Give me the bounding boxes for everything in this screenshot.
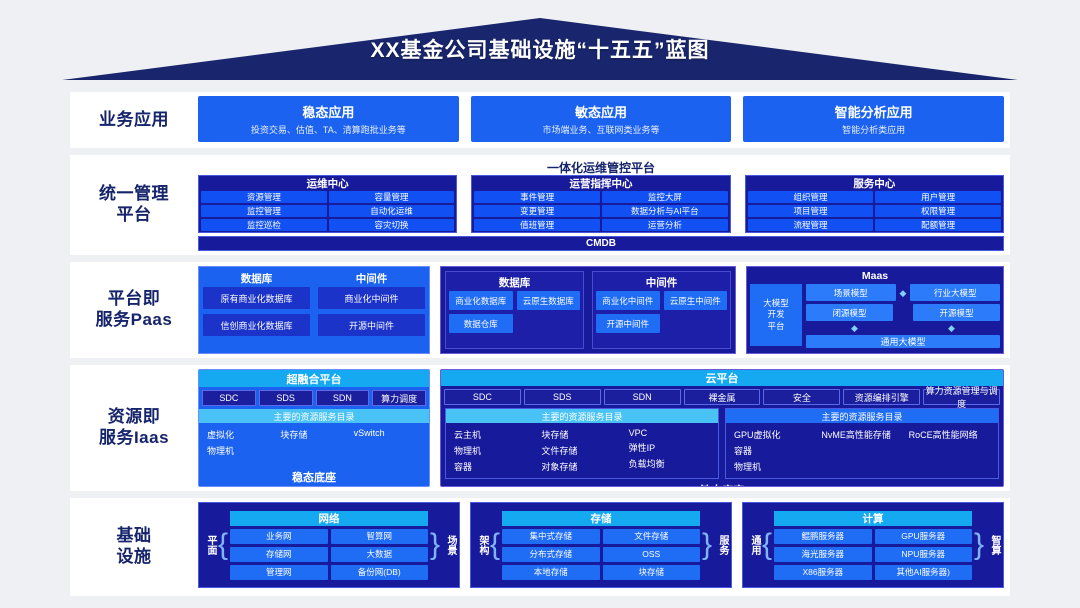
block-item[interactable]: 鲲鹏服务器 (774, 529, 871, 544)
capability-item[interactable]: SDC (202, 390, 256, 406)
paas-item[interactable]: 开源中间件 (318, 314, 425, 336)
catalog-column: RoCE高性能网络 (909, 428, 990, 473)
roof-banner: XX基金公司基础设施“十五五”蓝图 (0, 0, 1080, 92)
maas-dev-platform[interactable]: 大模型开发平台 (750, 284, 802, 346)
application-card-title: 智能分析应用 (835, 102, 913, 121)
arrow-right-icon: ◆ (900, 289, 907, 297)
maas-model-item[interactable]: 场景模型 (806, 284, 896, 301)
cloud-platform-title: 云平台 (441, 370, 1003, 386)
block-item[interactable]: 备份网(DB) (331, 565, 428, 580)
row-label-iaas: 资源即服务Iaas (70, 407, 198, 448)
catalog-item: 物理机 (207, 444, 274, 457)
paas-item[interactable]: 云原生中间件 (664, 291, 728, 310)
paas-item-list: 原有商业化数据库 信创商业化数据库 (203, 287, 310, 349)
paas-subgroup-database: 数据库 商业化数据库 云原生数据库 数据仓库 (445, 271, 584, 349)
center-item[interactable]: 容灾切换 (329, 219, 455, 231)
maas-model-item[interactable]: 开源模型 (913, 304, 1000, 321)
application-card[interactable]: 敏态应用 市场端业务、互联网类业务等 (471, 96, 732, 142)
block-item[interactable]: 本地存储 (502, 565, 599, 580)
capability-item[interactable]: 裸金属 (684, 389, 761, 405)
catalog-item: 容器 (734, 444, 815, 457)
application-card-list: 稳态应用 投资交易、估值、TA、清算跑批业务等 敏态应用 市场端业务、互联网类业… (198, 96, 1004, 142)
application-card[interactable]: 稳态应用 投资交易、估值、TA、清算跑批业务等 (198, 96, 459, 142)
catalog-item: 物理机 (734, 460, 815, 473)
maas-general-model[interactable]: 通用大模型 (806, 335, 1000, 348)
paas-item[interactable]: 商业化中间件 (318, 287, 425, 309)
maas-row-source: 闭源模型 开源模型 (806, 304, 1000, 321)
row-body-iaas: 超融合平台 SDC SDS SDN 算力调度 主要的资源服务目录 虚拟化 物理机 (198, 365, 1010, 491)
management-center-list: 运维中心 资源管理 容量管理 监控管理 自动化运维 监控巡检 容灾切换 运营指挥… (198, 175, 1004, 233)
block-item[interactable]: 存储网 (230, 547, 327, 562)
row-label-infrastructure: 基础设施 (70, 526, 198, 567)
catalog-body: 虚拟化 物理机 块存储 vSwitch (199, 423, 429, 468)
catalog-column: VPC 弹性IP 负载均衡 (629, 428, 710, 473)
paas-item[interactable]: 云原生数据库 (517, 291, 581, 310)
block-item[interactable]: 文件存储 (603, 529, 700, 544)
center-title: 运营指挥中心 (474, 178, 727, 191)
block-item[interactable]: 业务网 (230, 529, 327, 544)
paas-item[interactable]: 商业化数据库 (449, 291, 513, 310)
capability-item[interactable]: SDN (604, 389, 681, 405)
paas-subgroup-title: 中间件 (596, 275, 727, 291)
center-item[interactable]: 项目管理 (748, 205, 874, 217)
brace-left-icon: { (490, 530, 500, 560)
center-item-grid: 资源管理 容量管理 监控管理 自动化运维 监控巡检 容灾切换 (201, 191, 454, 230)
paas-item[interactable]: 信创商业化数据库 (203, 314, 310, 336)
hyperconverged-title: 超融合平台 (199, 370, 429, 387)
application-card-title: 稳态应用 (302, 102, 354, 121)
block-item[interactable]: OSS (603, 547, 700, 562)
center-item[interactable]: 配额管理 (875, 219, 1001, 231)
catalog-item: 块存储 (280, 428, 347, 441)
application-card-title: 敏态应用 (575, 102, 627, 121)
brace-left-icon: { (218, 530, 228, 560)
hyperconverged-platform: 超融合平台 SDC SDS SDN 算力调度 主要的资源服务目录 虚拟化 物理机 (198, 369, 430, 487)
row-body-infrastructure: 平面 { 网络 业务网 智算网 存储网 大数据 管理网 备份网(DB) (198, 498, 1010, 596)
block-right-label: 智算 (986, 535, 1000, 555)
center-item[interactable]: 容量管理 (329, 191, 455, 203)
center-item[interactable]: 事件管理 (474, 191, 600, 203)
cloud-catalog-split: 主要的资源服务目录 云主机 物理机 容器 块存储 文件存储 (441, 408, 1003, 482)
catalog-item: GPU虚拟化 (734, 428, 815, 441)
application-card-subtitle: 投资交易、估值、TA、清算跑批业务等 (251, 123, 406, 136)
capability-item[interactable]: 资源编排引擎 (843, 389, 920, 405)
center-item[interactable]: 流程管理 (748, 219, 874, 231)
hyperconverged-capability-list: SDC SDS SDN 算力调度 (199, 387, 429, 409)
page-title: XX基金公司基础设施“十五五”蓝图 (0, 34, 1080, 64)
blueprint-page: XX基金公司基础设施“十五五”蓝图 业务应用 稳态应用 投资交易、估值、TA、清… (0, 0, 1080, 608)
cloud-platform: 云平台 SDC SDS SDN 裸金属 安全 资源编排引擎 算力资源管理与调度 … (440, 369, 1004, 487)
catalog-item: 弹性IP (629, 441, 710, 454)
paas-item-list: 商业化数据库 云原生数据库 数据仓库 (449, 291, 580, 333)
platform-title: 一体化运维管控平台 (198, 159, 1004, 175)
row-unified-management: 统一管理平台 一体化运维管控平台 运维中心 资源管理 容量管理 监控管理 自动化… (70, 155, 1010, 255)
center-title: 运维中心 (201, 178, 454, 191)
block-item[interactable]: 管理网 (230, 565, 327, 580)
capability-item[interactable]: 算力调度 (372, 390, 426, 406)
brace-right-icon: } (702, 530, 712, 560)
center-item[interactable]: 监控巡检 (201, 219, 327, 231)
block-item[interactable]: 分布式存储 (502, 547, 599, 562)
center-item[interactable]: 变更管理 (474, 205, 600, 217)
block-right-label: 服务 (714, 535, 728, 555)
catalog-item: NvME高性能存储 (821, 428, 902, 441)
row-iaas: 资源即服务Iaas 超融合平台 SDC SDS SDN 算力调度 主要的资源服务… (70, 365, 1010, 491)
catalog-item: 文件存储 (541, 444, 622, 457)
catalog-body: GPU虚拟化 容器 物理机 NvME高性能存储 RoCE高性能网络 (726, 423, 998, 478)
maas-model-item[interactable]: 行业大模型 (910, 284, 1000, 301)
maas-dev-platform-label: 大模型开发平台 (763, 298, 789, 332)
cloud-capability-list: SDC SDS SDN 裸金属 安全 资源编排引擎 算力资源管理与调度 (441, 386, 1003, 408)
center-item[interactable]: 值班管理 (474, 219, 600, 231)
catalog-item: vSwitch (354, 428, 421, 438)
paas-item[interactable]: 原有商业化数据库 (203, 287, 310, 309)
row-body-paas: 数据库 原有商业化数据库 信创商业化数据库 中间件 商业化中间件 开源中间件 (198, 262, 1010, 358)
center-item[interactable]: 资源管理 (201, 191, 327, 203)
row-body-business-applications: 稳态应用 投资交易、估值、TA、清算跑批业务等 敏态应用 市场端业务、互联网类业… (198, 92, 1010, 148)
catalog-item: 云主机 (454, 428, 535, 441)
block-title: 网络 (230, 511, 428, 526)
maas-model-item[interactable]: 闭源模型 (806, 304, 893, 321)
management-center[interactable]: 运营指挥中心 事件管理 监控大屏 变更管理 数据分析与AI平台 值班管理 运营分… (471, 175, 730, 233)
row-paas: 平台即服务Paas 数据库 原有商业化数据库 信创商业化数据库 中间件 (70, 262, 1010, 358)
row-label-paas: 平台即服务Paas (70, 289, 198, 330)
catalog-column: 云主机 物理机 容器 (454, 428, 535, 473)
capability-item[interactable]: SDS (259, 390, 313, 406)
block-item[interactable]: 其他AI服务器) (875, 565, 972, 580)
catalog-item: VPC (629, 428, 710, 438)
paas-subgroup-middleware: 中间件 商业化中间件 云原生中间件 开源中间件 (592, 271, 731, 349)
paas-cloudnative-group: 数据库 商业化数据库 云原生数据库 数据仓库 中间件 商业化中间件 云原生中间件… (440, 266, 736, 354)
block-item[interactable]: 块存储 (603, 565, 700, 580)
cloud-catalog-ai: 主要的资源服务目录 GPU虚拟化 容器 物理机 NvME高性能存储 (725, 408, 999, 479)
maas-group: Maas 大模型开发平台 场景模型 ◆ 行业大模型 闭 (746, 266, 1004, 354)
agile-base-label: 敏态底座 (441, 482, 1003, 487)
catalog-column: GPU虚拟化 容器 物理机 (734, 428, 815, 473)
management-center[interactable]: 运维中心 资源管理 容量管理 监控管理 自动化运维 监控巡检 容灾切换 (198, 175, 457, 233)
block-item[interactable]: 智算网 (331, 529, 428, 544)
maas-title: Maas (750, 270, 1000, 284)
block-item[interactable]: X86服务器 (774, 565, 871, 580)
center-title: 服务中心 (748, 178, 1001, 191)
capability-item[interactable]: 算力资源管理与调度 (923, 389, 1000, 405)
catalog-body: 云主机 物理机 容器 块存储 文件存储 对象存储 (446, 423, 718, 478)
paas-subgroup-database: 数据库 原有商业化数据库 信创商业化数据库 (203, 271, 310, 349)
catalog-column: NvME高性能存储 (821, 428, 902, 473)
maas-arrow-row: ◆ ◆ (806, 324, 1000, 332)
paas-subgroup-title: 数据库 (449, 275, 580, 291)
catalog-title: 主要的资源服务目录 (726, 409, 998, 423)
capability-item[interactable]: SDS (524, 389, 601, 405)
center-item[interactable]: 运营分析 (602, 219, 728, 231)
capability-item[interactable]: SDN (316, 390, 370, 406)
center-item-grid: 事件管理 监控大屏 变更管理 数据分析与AI平台 值班管理 运营分析 (474, 191, 727, 230)
block-right-label: 场景 (442, 535, 456, 555)
row-label-unified-management: 统一管理平台 (70, 184, 198, 225)
catalog-title: 主要的资源服务目录 (446, 409, 718, 423)
catalog-column: 虚拟化 物理机 (207, 428, 274, 463)
paas-item[interactable]: 商业化中间件 (596, 291, 660, 310)
center-item[interactable]: 自动化运维 (329, 205, 455, 217)
block-left-label: 架构 (474, 535, 488, 555)
row-infrastructure: 基础设施 平面 { 网络 业务网 智算网 存储网 大数据 管理网 备份网(D (70, 498, 1010, 596)
catalog-item: 物理机 (454, 444, 535, 457)
paas-subgroup-title: 中间件 (318, 271, 425, 287)
block-item[interactable]: 大数据 (331, 547, 428, 562)
catalog-item: 对象存储 (541, 460, 622, 473)
paas-item[interactable]: 数据仓库 (449, 314, 513, 333)
catalog-item: RoCE高性能网络 (909, 428, 990, 441)
infrastructure-block-storage: 架构 { 存储 集中式存储 文件存储 分布式存储 OSS 本地存储 块存储 (470, 502, 732, 588)
center-item[interactable]: 监控大屏 (602, 191, 728, 203)
paas-item-list: 商业化中间件 开源中间件 (318, 287, 425, 349)
application-card[interactable]: 智能分析应用 智能分析类应用 (743, 96, 1004, 142)
block-left-label: 通用 (746, 535, 760, 555)
block-item[interactable]: 海光服务器 (774, 547, 871, 562)
center-item[interactable]: 数据分析与AI平台 (602, 205, 728, 217)
infrastructure-block-compute: 通用 { 计算 鲲鹏服务器 GPU服务器 海光服务器 NPU服务器 X86服务器… (742, 502, 1004, 588)
center-item[interactable]: 组织管理 (748, 191, 874, 203)
capability-item[interactable]: 安全 (763, 389, 840, 405)
cmdb-bar[interactable]: CMDB (198, 236, 1004, 251)
capability-item[interactable]: SDC (444, 389, 521, 405)
catalog-item: 容器 (454, 460, 535, 473)
arrow-up-icon: ◆ (851, 324, 858, 332)
center-item[interactable]: 用户管理 (875, 191, 1001, 203)
paas-traditional-group: 数据库 原有商业化数据库 信创商业化数据库 中间件 商业化中间件 开源中间件 (198, 266, 430, 354)
brace-left-icon: { (762, 530, 772, 560)
block-item[interactable]: NPU服务器 (875, 547, 972, 562)
management-center[interactable]: 服务中心 组织管理 用户管理 项目管理 权限管理 流程管理 配额管理 (745, 175, 1004, 233)
row-business-applications: 业务应用 稳态应用 投资交易、估值、TA、清算跑批业务等 敏态应用 市场端业务、… (70, 92, 1010, 148)
stable-base-label: 稳态底座 (199, 468, 429, 486)
catalog-item: 块存储 (541, 428, 622, 441)
catalog-item: 虚拟化 (207, 428, 274, 441)
block-item-grid: 业务网 智算网 存储网 大数据 管理网 备份网(DB) (230, 529, 428, 580)
center-item[interactable]: 监控管理 (201, 205, 327, 217)
arrow-up-icon: ◆ (948, 324, 955, 332)
block-item[interactable]: 集中式存储 (502, 529, 599, 544)
block-left-label: 平面 (202, 535, 216, 555)
application-card-subtitle: 智能分析类应用 (842, 123, 905, 136)
block-title: 计算 (774, 511, 972, 526)
block-item-grid: 集中式存储 文件存储 分布式存储 OSS 本地存储 块存储 (502, 529, 700, 580)
catalog-title: 主要的资源服务目录 (199, 409, 429, 423)
catalog-item: 负载均衡 (629, 457, 710, 470)
brace-right-icon: } (430, 530, 440, 560)
catalog-column: 块存储 (280, 428, 347, 463)
cloud-catalog-general: 主要的资源服务目录 云主机 物理机 容器 块存储 文件存储 (445, 408, 719, 479)
block-item-grid: 鲲鹏服务器 GPU服务器 海光服务器 NPU服务器 X86服务器 其他AI服务器… (774, 529, 972, 580)
paas-item[interactable]: 开源中间件 (596, 314, 660, 333)
maas-row-scene: 场景模型 ◆ 行业大模型 (806, 284, 1000, 301)
paas-subgroup-title: 数据库 (203, 271, 310, 287)
paas-subgroup-middleware: 中间件 商业化中间件 开源中间件 (318, 271, 425, 349)
application-card-subtitle: 市场端业务、互联网类业务等 (543, 123, 660, 136)
catalog-column: 块存储 文件存储 对象存储 (541, 428, 622, 473)
row-body-unified-management: 一体化运维管控平台 运维中心 资源管理 容量管理 监控管理 自动化运维 监控巡检… (198, 155, 1010, 255)
maas-model-stack: 场景模型 ◆ 行业大模型 闭源模型 开源模型 ◆ ◆ (806, 284, 1000, 346)
brace-right-icon: } (974, 530, 984, 560)
row-label-business-applications: 业务应用 (70, 110, 198, 131)
catalog-column: vSwitch (354, 428, 421, 463)
infrastructure-block-network: 平面 { 网络 业务网 智算网 存储网 大数据 管理网 备份网(DB) (198, 502, 460, 588)
center-item[interactable]: 权限管理 (875, 205, 1001, 217)
paas-item-list: 商业化中间件 云原生中间件 开源中间件 (596, 291, 727, 333)
block-title: 存储 (502, 511, 700, 526)
block-item[interactable]: GPU服务器 (875, 529, 972, 544)
center-item-grid: 组织管理 用户管理 项目管理 权限管理 流程管理 配额管理 (748, 191, 1001, 230)
